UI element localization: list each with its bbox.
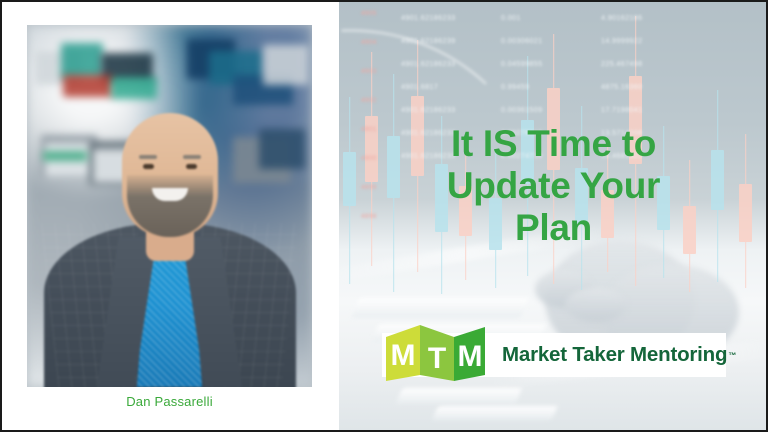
ledger-row: 4901.621862330.0014.90162186 xyxy=(401,6,701,29)
speaker-panel: Dan Passarelli xyxy=(2,2,339,430)
speaker-figure xyxy=(27,25,312,387)
ledger-cell: 4901.62186233 xyxy=(401,13,501,22)
logo-letter-m2: M xyxy=(458,340,483,373)
headline-line-3: Plan xyxy=(515,207,592,248)
photo-blur-wrapper xyxy=(27,25,312,387)
hair xyxy=(119,107,221,151)
logo-letter-t: T xyxy=(428,342,446,375)
logo-letter-m1: M xyxy=(391,339,416,372)
ledger-cell: 17.7198041 xyxy=(601,105,701,114)
slide-headline: It IS Time to Update Your Plan xyxy=(351,123,756,250)
eye-left xyxy=(143,164,154,169)
speaker-photo xyxy=(27,25,312,387)
mtm-logo-icon: M T M xyxy=(384,323,487,383)
keyboard-row xyxy=(432,406,558,420)
logo-wordmark: Market Taker Mentoring™ xyxy=(502,333,736,377)
logo-wordmark-text: Market Taker Mentoring xyxy=(502,343,727,367)
eyebrow-right xyxy=(183,155,201,159)
ledger-row: 4901.621862390.0030602114.9999922 xyxy=(401,29,701,52)
ledger-cell: 225.467498 xyxy=(601,59,701,68)
speaker-name-caption: Dan Passarelli xyxy=(27,394,312,409)
ledger-cell: 0.00306021 xyxy=(501,36,601,45)
eye-right xyxy=(186,164,197,169)
headline-line-2: Update Your xyxy=(447,165,660,206)
ledger-cell: 0.001 xyxy=(501,13,601,22)
trademark-symbol: ™ xyxy=(728,351,736,360)
keyboard-row xyxy=(396,388,522,404)
presentation-slide: Dan Passarelli 4905490449034902490149004… xyxy=(0,0,768,432)
ledger-cell: 0.99459 xyxy=(501,82,601,91)
headline-line-1: It IS Time to xyxy=(451,123,656,164)
ledger-cell: 0.04599855 xyxy=(501,59,601,68)
ledger-cell: 4875.16360 xyxy=(601,82,701,91)
ledger-cell: 4.90162186 xyxy=(601,13,701,22)
ledger-cell: 0.00361509 xyxy=(501,105,601,114)
ledger-cell: 14.9999922 xyxy=(601,36,701,45)
eyebrow-left xyxy=(139,155,157,159)
title-panel: 49054904490349024901490048994898 4901.62… xyxy=(339,2,768,430)
